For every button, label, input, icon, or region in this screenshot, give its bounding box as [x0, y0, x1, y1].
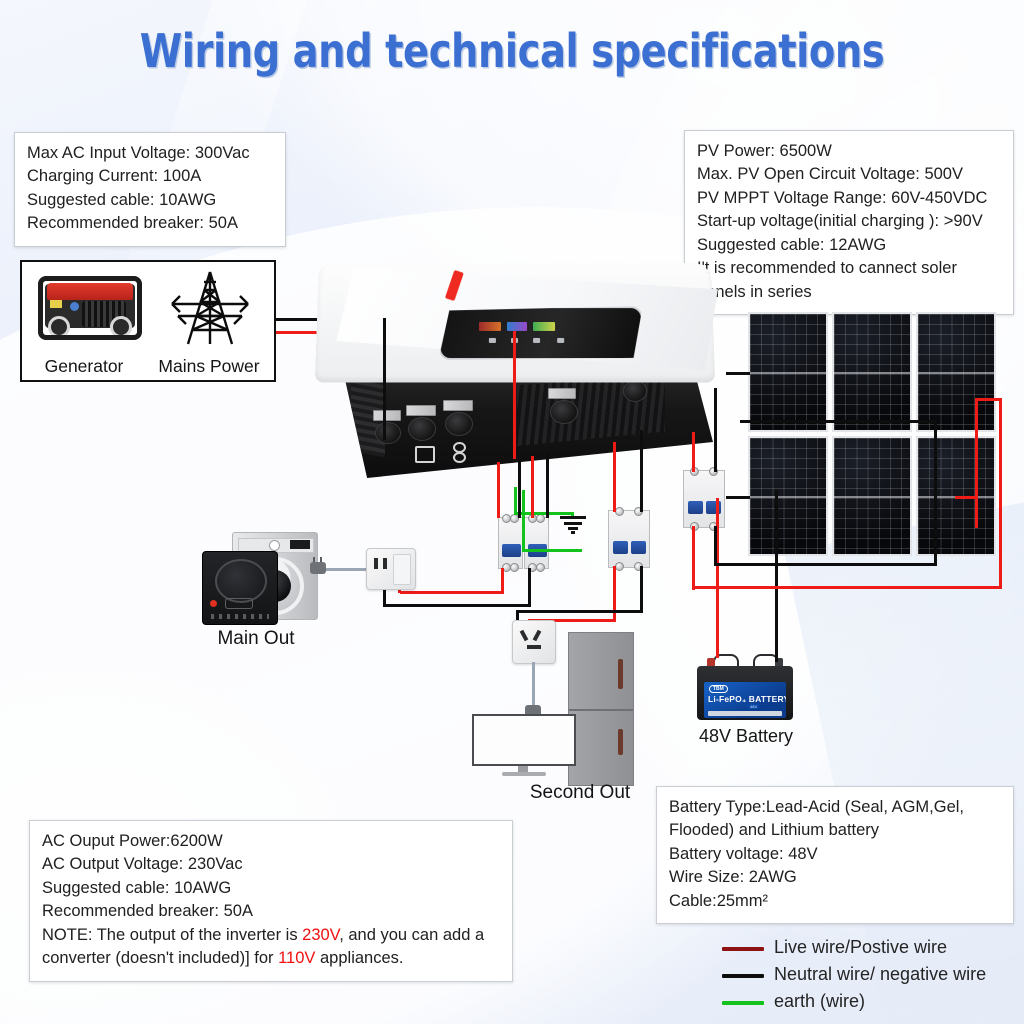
wire-battery-positive — [716, 498, 719, 658]
pv-line-4: Start-up voltage(initial charging ): >90… — [697, 210, 1001, 233]
ac-input-line-4: Recommended breaker: 50A — [27, 212, 273, 235]
pv-line-2: Max. PV Open Circuit Voltage: 500V — [697, 163, 1001, 186]
ac-input-spec-box: Max AC Input Voltage: 300Vac Charging Cu… — [14, 132, 286, 247]
wire-inv-out-neutral-1 — [518, 459, 521, 518]
mains-power-label: Mains Power — [142, 356, 276, 377]
battery-line-3: Battery voltage: 48V — [669, 843, 1001, 866]
wire-panel-row2-tap — [726, 496, 750, 499]
battery-caption: 48V Battery — [666, 726, 826, 747]
pv-line-7: panels in series — [697, 281, 1001, 304]
wall-socket-second-out[interactable] — [512, 620, 556, 664]
battery-line-4: Wire Size: 2AWG — [669, 866, 1001, 889]
wall-switch-plate[interactable] — [366, 548, 416, 590]
legend-label-live: Live wire/Postive wire — [774, 937, 947, 958]
wire-mainout-neutral-down — [528, 568, 531, 606]
wire-inv-out-neutral-2 — [546, 452, 549, 518]
wire-pv-live-in — [692, 432, 695, 472]
inverter-ground-screw-b — [453, 452, 466, 463]
wire-pv-live-mid-v — [975, 398, 978, 528]
wire-inv-out-live-2 — [531, 456, 534, 518]
note-suffix: appliances. — [315, 949, 403, 967]
battery-line-2: Flooded) and Lithium battery — [669, 819, 1001, 842]
wire-pv-live-top-tap — [975, 398, 1002, 401]
legend-row-earth: earth (wire) — [722, 990, 1022, 1017]
inverter-port-pv — [623, 380, 647, 402]
wire-color-legend: Live wire/Postive wire Neutral wire/ neg… — [722, 936, 1022, 1017]
power-source-box: Generator Mains Power — [20, 260, 276, 382]
diagram-canvas: Wiring and technical specifications Max … — [0, 0, 1024, 1024]
induction-cooktop — [202, 551, 278, 625]
wire-panel-row1-tap — [726, 372, 750, 375]
wire-secondout-neutral-h — [516, 610, 643, 613]
solar-panel-5 — [832, 436, 912, 556]
pv-line-1: PV Power: 6500W — [697, 140, 1001, 163]
note-voltage-110: 110V — [278, 949, 315, 967]
legend-swatch-live — [722, 947, 764, 951]
wire-inv-out-live-1 — [497, 462, 500, 518]
wire-ac-in-live-v — [513, 331, 516, 459]
wire-pv-live-down — [692, 526, 695, 590]
legend-swatch-earth — [722, 1001, 764, 1005]
inverter-port-2 — [408, 417, 436, 441]
battery-line-5: Cable:25mm² — [669, 890, 1001, 913]
wire-secondout-neutral-down — [640, 566, 643, 612]
main-out-label: Main Out — [196, 628, 316, 650]
legend-label-earth: earth (wire) — [774, 991, 865, 1012]
solar-panel-4 — [748, 436, 828, 556]
breaker-main-out-b[interactable] — [524, 517, 549, 569]
wire-secondout-live-down — [613, 566, 616, 622]
inverter-terminal-label-3 — [443, 400, 473, 411]
cord-tv — [532, 662, 535, 710]
inverter-terminal-label-1 — [373, 410, 401, 421]
breaker-second-out[interactable] — [608, 510, 650, 568]
inverter-port-1 — [375, 422, 401, 444]
inverter-comm-port — [415, 446, 435, 463]
ac-output-line-2: AC Output Voltage: 230Vac — [42, 853, 500, 876]
television — [472, 714, 576, 776]
generator-icon — [38, 276, 142, 340]
wire-pv-neutral-in — [714, 388, 717, 472]
earth-ground-symbol — [560, 516, 586, 534]
wire-mainout-live-h — [400, 591, 504, 594]
pv-line-6: I't is recommended to cannect soler — [697, 257, 1001, 280]
pv-line-3: PV MPPT Voltage Range: 60V-450VDC — [697, 187, 1001, 210]
ac-output-line-4: Recommended breaker: 50A — [42, 900, 500, 923]
wire-earth-v3 — [522, 490, 525, 552]
wire-secondout-neutral-up — [640, 430, 643, 512]
solar-panel-3 — [916, 312, 996, 432]
ac-output-spec-box: AC Ouput Power:6200W AC Output Voltage: … — [29, 820, 513, 982]
ac-input-line-3: Suggested cable: 10AWG — [27, 189, 273, 212]
wire-earth-h2 — [522, 549, 582, 552]
wire-pv-neutral-v — [934, 420, 937, 566]
wire-earth-v1 — [514, 487, 517, 515]
ac-output-line-3: Suggested cable: 10AWG — [42, 877, 500, 900]
battery-unit: TBM Li-FePO₄ BATTERY 48V — [697, 658, 793, 720]
wire-pv-live-right-v — [999, 398, 1002, 588]
battery-chemistry-label: Li-FePO₄ BATTERY — [708, 694, 786, 704]
wire-pv-neutral-top-h — [740, 420, 937, 423]
inverter-port-battery — [550, 400, 578, 424]
page-title: Wiring and technical specifications — [36, 24, 988, 78]
refrigerator — [568, 632, 634, 786]
wire-battery-negative — [775, 490, 778, 662]
pv-spec-box: PV Power: 6500W Max. PV Open Circuit Vol… — [684, 130, 1014, 315]
legend-swatch-neutral — [722, 974, 764, 978]
inverter-terminal-label-2 — [406, 405, 436, 416]
pv-line-5: Suggested cable: 12AWG — [697, 234, 1001, 257]
solar-panel-1 — [748, 312, 828, 432]
wire-secondout-live-up — [613, 442, 616, 512]
wire-pv-neutral-down — [714, 526, 717, 566]
wire-ac-in-neutral-v — [383, 318, 386, 440]
ac-input-line-1: Max AC Input Voltage: 300Vac — [27, 142, 273, 165]
washer-plug — [310, 562, 326, 574]
ac-input-line-2: Charging Current: 100A — [27, 165, 273, 188]
inverter-lcd-panel[interactable] — [438, 306, 643, 360]
note-voltage-230: 230V — [302, 926, 339, 944]
note-prefix: NOTE: The output of the inverter is — [42, 926, 302, 944]
breaker-main-out-a[interactable] — [498, 517, 523, 569]
legend-label-neutral: Neutral wire/ negative wire — [774, 964, 986, 985]
transmission-tower-icon — [158, 270, 262, 346]
battery-brand: TBM — [709, 685, 728, 693]
legend-row-live: Live wire/Postive wire — [722, 936, 1022, 963]
battery-spec-box: Battery Type:Lead-Acid (Seal, AGM,Gel, F… — [656, 786, 1014, 924]
legend-row-neutral: Neutral wire/ negative wire — [722, 963, 1022, 990]
ac-output-note: NOTE: The output of the inverter is 230V… — [42, 924, 500, 971]
wire-pv-neutral-h — [714, 563, 937, 566]
wire-pv-live-h-bottom — [692, 586, 1002, 589]
inverter-port-3 — [445, 412, 473, 436]
wire-pv-live-mid-tap — [955, 496, 978, 499]
ac-output-line-1: AC Ouput Power:6200W — [42, 830, 500, 853]
inverter-terminal-label-battery — [548, 388, 576, 399]
solar-panel-2 — [832, 312, 912, 432]
battery-voltage-badge: 48V — [748, 704, 759, 709]
second-out-label: Second Out — [520, 782, 640, 804]
wire-mainout-neutral-h — [383, 604, 531, 607]
generator-label: Generator — [24, 356, 144, 377]
battery-line-1: Battery Type:Lead-Acid (Seal, AGM,Gel, — [669, 796, 1001, 819]
